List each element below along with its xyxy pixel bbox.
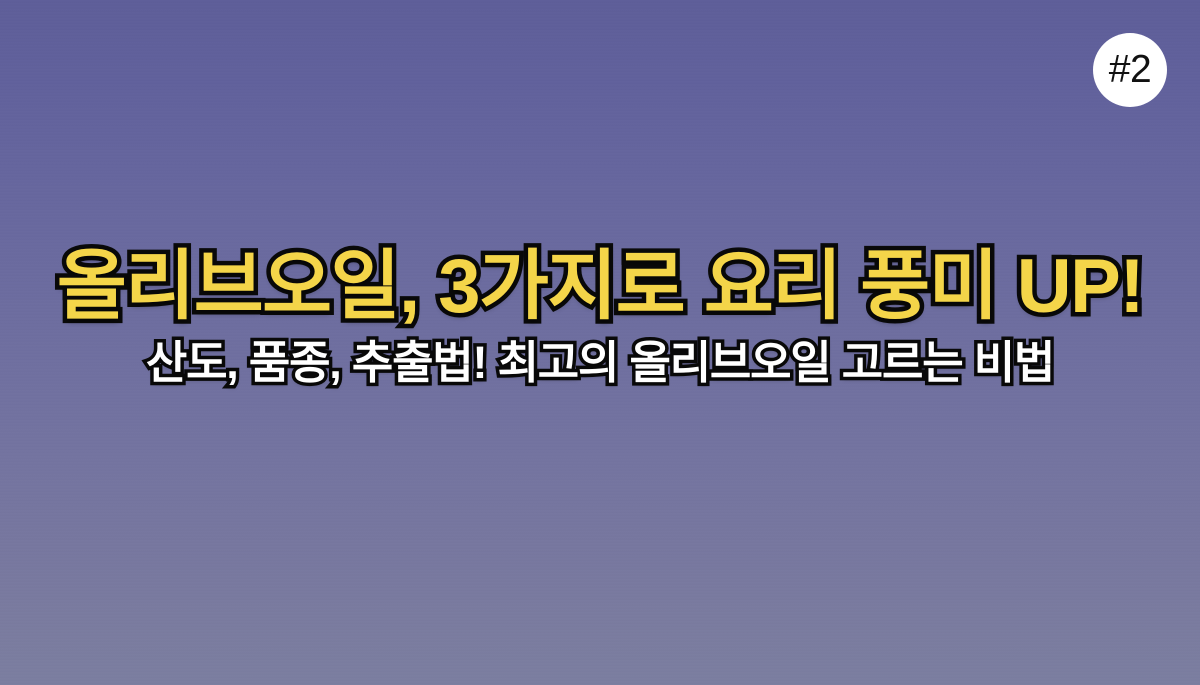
slide-number-badge: #2: [1093, 33, 1167, 107]
video-slide: #2 올리브오일, 3가지로 요리 풍미 UP! 산도, 품종, 추출법! 최고…: [0, 0, 1200, 685]
subheadline-text: 산도, 품종, 추출법! 최고의 올리브오일 고르는 비법: [0, 338, 1200, 388]
headline-text: 올리브오일, 3가지로 요리 풍미 UP!: [0, 246, 1200, 328]
slide-number-badge-label: #2: [1109, 50, 1151, 89]
title-group: 올리브오일, 3가지로 요리 풍미 UP! 산도, 품종, 추출법! 최고의 올…: [0, 246, 1200, 388]
